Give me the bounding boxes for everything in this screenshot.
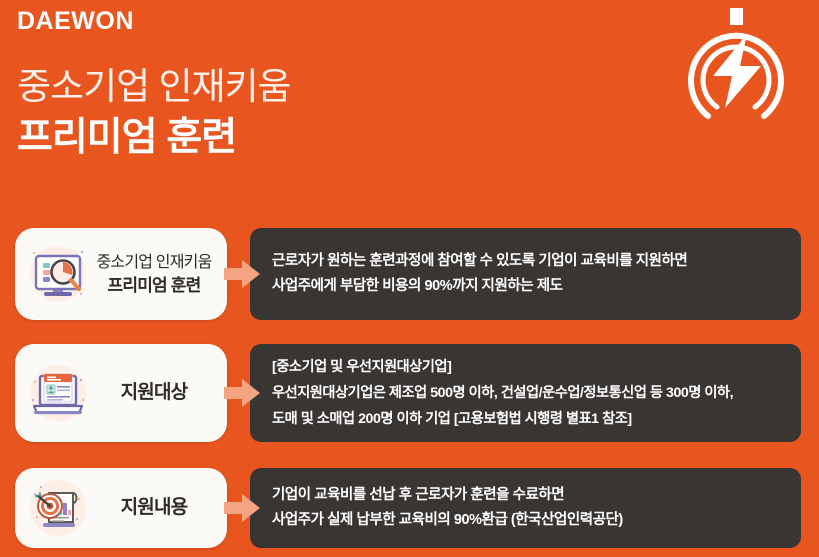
card-premium-training[interactable]: 중소기업 인재키움 프리미엄 훈련 [15, 228, 227, 320]
brand-wordmark: DAEWON [17, 6, 134, 36]
panel-text-line: 사업주가 실제 납부한 교육비의 90%환급 (한국산업인력공단) [272, 508, 785, 533]
panel-premium-training: 근로자가 원하는 훈련과정에 참여할 수 있도록 기업이 교육비를 지원하면 사… [250, 228, 801, 320]
panel-text-line: 우선지원대상기업은 제조업 500명 이하, 건설업/운수업/정보통신업 등 3… [272, 380, 785, 406]
card-benefits[interactable]: 지원내용 [15, 468, 227, 548]
lightning-bolt-in-circle-logo-icon [675, 6, 797, 126]
page-title-line-2: 프리미엄 훈련 [17, 112, 617, 164]
header-banner: DAEWON 중소기업 인재키움 프리미엄 훈련 [0, 0, 819, 215]
panel-text-line: 기업이 교육비를 선납 후 근로자가 훈련을 수료하면 [272, 483, 785, 508]
arrow-right-icon [224, 259, 260, 289]
panel-eligibility: [중소기업 및 우선지원대상기업] 우선지원대상기업은 제조업 500명 이하,… [250, 344, 801, 442]
arrow-right-icon [224, 493, 260, 523]
info-row-eligibility: 지원대상 [중소기업 및 우선지원대상기업] 우선지원대상기업은 제조업 500… [0, 344, 819, 442]
card-label-line-1: 중소기업 인재키움 [89, 252, 219, 274]
monitor-chart-magnifier-icon [27, 243, 89, 305]
arrow-right-icon [224, 378, 260, 408]
card-label-eligibility: 지원대상 [89, 381, 227, 405]
card-label-text: 지원대상 [89, 381, 219, 405]
panel-text-line: 근로자가 원하는 훈련과정에 참여할 수 있도록 기업이 교육비를 지원하면 [272, 249, 785, 274]
card-label-premium-training: 중소기업 인재키움 프리미엄 훈련 [89, 252, 227, 297]
panel-benefits: 기업이 교육비를 선납 후 근로자가 훈련을 수료하면 사업주가 실제 납부한 … [250, 468, 801, 548]
info-row-premium-training: 중소기업 인재키움 프리미엄 훈련 근로자가 원하는 훈련과정에 참여할 수 있… [0, 228, 819, 320]
card-label-text: 지원내용 [89, 496, 219, 520]
page-title-line-1: 중소기업 인재키움 [17, 62, 617, 112]
card-label-benefits: 지원내용 [89, 496, 227, 520]
info-row-benefits: 지원내용 기업이 교육비를 선납 후 근로자가 훈련을 수료하면 사업주가 실제… [0, 468, 819, 548]
page-title: 중소기업 인재키움 프리미엄 훈련 [17, 62, 617, 164]
laptop-document-icon [27, 362, 89, 424]
panel-text-line: 도매 및 소매업 200명 이하 기업 [고용보험법 시행령 별표1 참조] [272, 406, 785, 432]
panel-text-line: 사업주에게 부담한 비용의 90%까지 지원하는 제도 [272, 274, 785, 299]
card-eligibility[interactable]: 지원대상 [15, 344, 227, 442]
card-label-line-2: 프리미엄 훈련 [89, 274, 219, 297]
panel-text-line: [중소기업 및 우선지원대상기업] [272, 354, 785, 380]
target-document-icon [27, 477, 89, 539]
